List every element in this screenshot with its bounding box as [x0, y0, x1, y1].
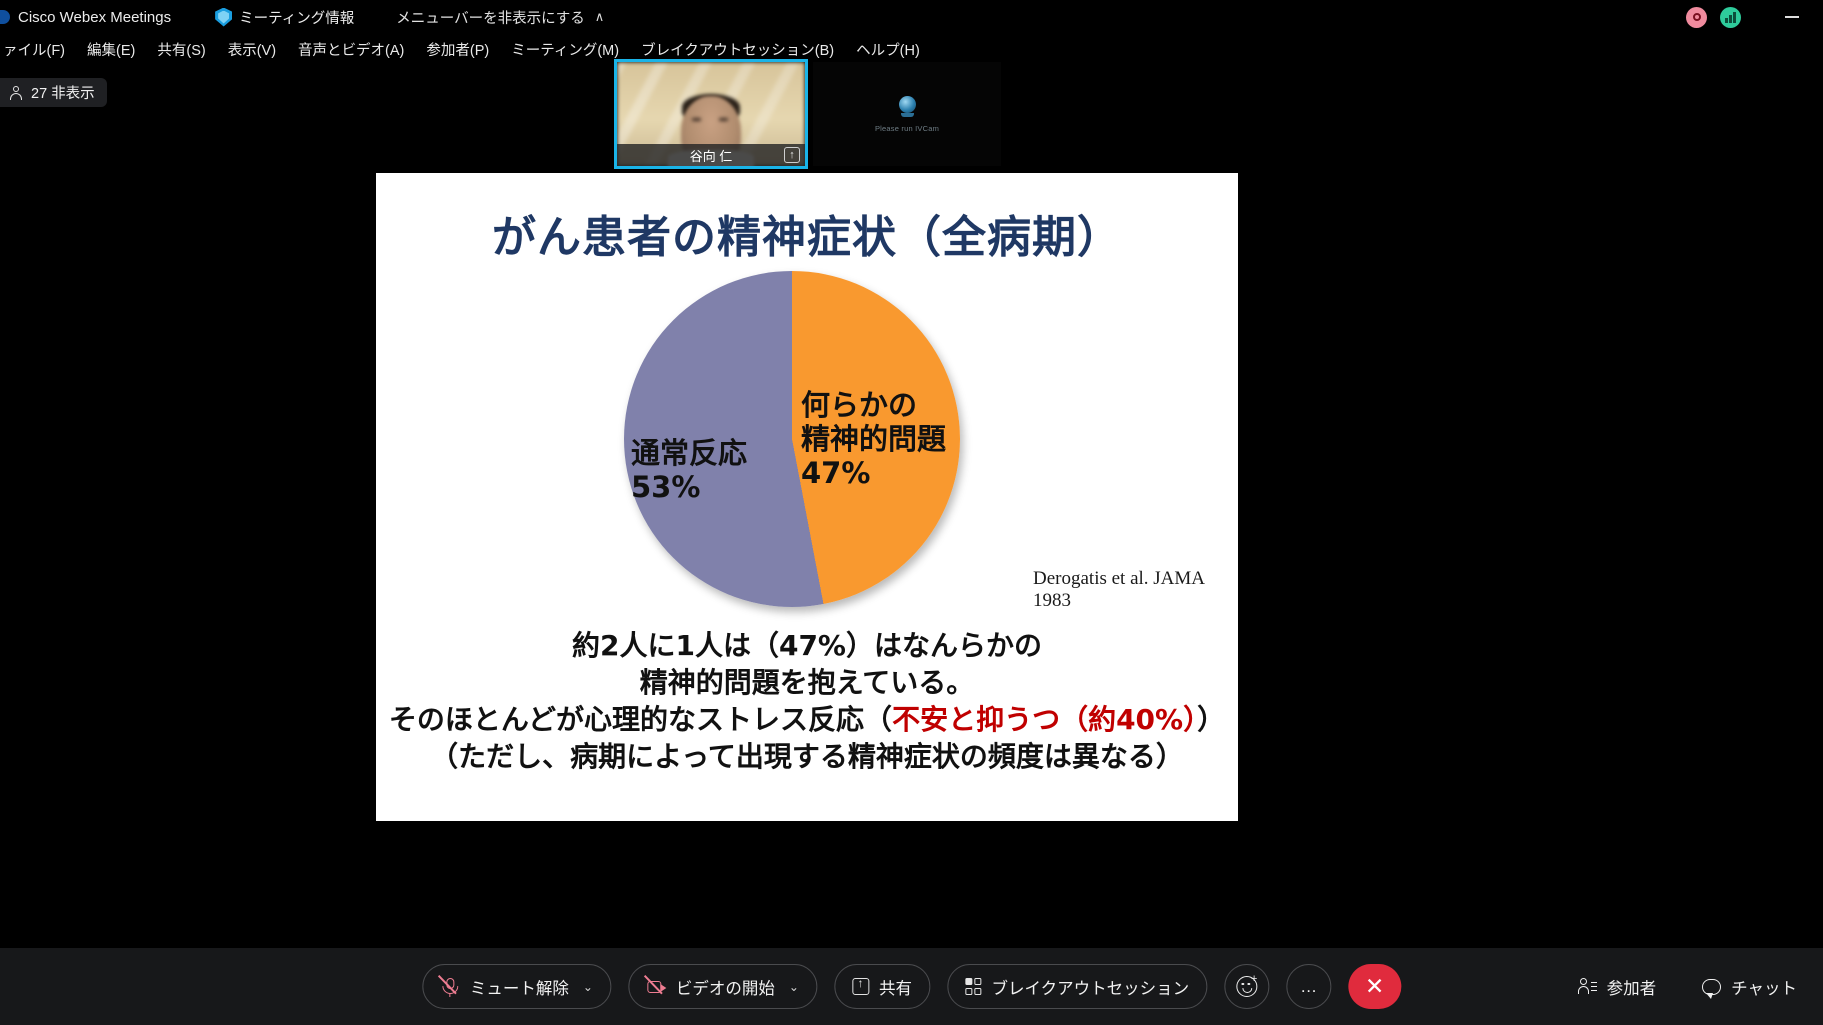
- pie-label-normal-reaction-value: 53%: [631, 470, 747, 504]
- chat-button-label: チャット: [1731, 975, 1797, 999]
- participants-button[interactable]: 参加者: [1578, 975, 1657, 999]
- ivcam-placeholder-text: Please run IVCam: [875, 124, 939, 133]
- more-options-button[interactable]: …: [1286, 964, 1331, 1009]
- app-title: Cisco Webex Meetings: [18, 9, 171, 26]
- network-quality-icon[interactable]: [1720, 7, 1741, 28]
- leave-meeting-button[interactable]: ✕: [1348, 964, 1401, 1009]
- menu-item-view[interactable]: 表示(V): [217, 39, 287, 60]
- slide-body-line-1: 約2人に1人は（47%）はなんらかの: [376, 628, 1238, 665]
- breakout-grid-icon: [965, 978, 982, 995]
- webex-meeting-window: Cisco Webex Meetings ミーティング情報 メニューバーを非表示…: [0, 0, 1823, 1025]
- breakout-session-button-label: ブレイクアウトセッション: [991, 975, 1189, 999]
- pie-label-psych-problem-value: 47%: [801, 457, 946, 491]
- menu-item-help[interactable]: ヘルプ(H): [845, 39, 931, 60]
- menu-item-breakout[interactable]: ブレイクアウトセッション(B): [630, 39, 845, 60]
- menu-bar: ァイル(F) 編集(E) 共有(S) 表示(V) 音声とビデオ(A) 参加者(P…: [0, 34, 1823, 64]
- slide-citation: Derogatis et al. JAMA 1983: [1033, 568, 1238, 612]
- video-name-label: 谷向 仁: [617, 144, 805, 166]
- slide-title: がん患者の精神症状（全病期）: [376, 201, 1238, 265]
- title-bar: Cisco Webex Meetings ミーティング情報 メニューバーを非表示…: [0, 0, 1823, 34]
- meeting-toolbar: ミュート解除 ⌄ ビデオの開始 ⌄ 共有 ブレイクアウトセッション +: [0, 948, 1823, 1025]
- menu-item-meeting[interactable]: ミーティング(M): [500, 39, 630, 60]
- chat-bubble-icon: [1702, 979, 1721, 995]
- reactions-smiley-icon: +: [1236, 976, 1257, 997]
- recording-icon[interactable]: [1686, 7, 1707, 28]
- mute-chevron-down-icon[interactable]: ⌄: [583, 980, 593, 994]
- toolbar-center-group: ミュート解除 ⌄ ビデオの開始 ⌄ 共有 ブレイクアウトセッション +: [422, 964, 1401, 1009]
- participants-button-label: 参加者: [1607, 975, 1657, 999]
- start-video-button-label: ビデオの開始: [676, 975, 775, 999]
- pie-label-normal-reaction: 通常反応 53%: [631, 436, 747, 504]
- meeting-info-button[interactable]: ミーティング情報: [215, 7, 354, 28]
- pie-label-psych-problem-line2: 精神的問題: [801, 423, 946, 457]
- video-chevron-down-icon[interactable]: ⌄: [789, 980, 799, 994]
- slide-body-line-4: （ただし、病期によって出現する精神症状の頻度は異なる）: [376, 739, 1238, 776]
- slide-body-line-3: そのほとんどが心理的なストレス反応（不安と抑うつ（約40%））: [376, 702, 1238, 739]
- slide-body-line-3-highlight: 不安と抑うつ（約40%）: [892, 703, 1197, 736]
- menu-item-file[interactable]: ァイル(F): [0, 39, 76, 60]
- menu-item-participant[interactable]: 参加者(P): [415, 39, 500, 60]
- more-options-icon: …: [1300, 977, 1317, 997]
- participants-icon: [1578, 978, 1597, 996]
- pie-label-psych-problem: 何らかの 精神的問題 47%: [801, 389, 946, 491]
- person-icon: [10, 86, 22, 100]
- camera-off-icon: [646, 976, 666, 998]
- microphone-muted-icon: [440, 976, 460, 998]
- chat-button[interactable]: チャット: [1702, 975, 1797, 999]
- minimize-button[interactable]: [1775, 0, 1809, 34]
- slide-body-line-3-post: ）: [1197, 703, 1225, 736]
- slide-body-line-3-pre: そのほとんどが心理的なストレス反応（: [389, 703, 892, 736]
- share-button[interactable]: 共有: [834, 964, 930, 1009]
- webcam-icon: [896, 96, 918, 118]
- menu-item-share[interactable]: 共有(S): [146, 39, 216, 60]
- slide-body-text: 約2人に1人は（47%）はなんらかの 精神的問題を抱えている。 そのほとんどが心…: [376, 628, 1238, 776]
- reactions-button[interactable]: +: [1224, 964, 1269, 1009]
- titlebar-right-group: [1686, 0, 1823, 34]
- slide-body-line-2: 精神的問題を抱えている。: [376, 665, 1238, 702]
- hidden-participants-label: 27 非表示: [31, 82, 95, 103]
- shield-icon: [215, 8, 232, 27]
- chevron-up-icon[interactable]: ∧: [595, 9, 605, 25]
- menu-item-audio-video[interactable]: 音声とビデオ(A): [287, 39, 415, 60]
- meeting-info-label: ミーティング情報: [239, 7, 354, 28]
- hide-menubar-button[interactable]: メニューバーを非表示にする: [396, 7, 585, 28]
- mute-button[interactable]: ミュート解除 ⌄: [422, 964, 611, 1009]
- menu-item-edit[interactable]: 編集(E): [76, 39, 146, 60]
- video-thumbnail-strip: 谷向 仁 ↑ Please run IVCam: [617, 62, 1001, 166]
- video-tile-speaker[interactable]: 谷向 仁 ↑: [617, 62, 805, 166]
- mute-button-label: ミュート解除: [470, 975, 569, 999]
- toolbar-right-group: 参加者 チャット: [1578, 975, 1797, 999]
- hidden-participants-badge[interactable]: 27 非表示: [0, 78, 107, 107]
- pie-label-normal-reaction-text: 通常反応: [631, 436, 747, 470]
- breakout-session-button[interactable]: ブレイクアウトセッション: [947, 964, 1207, 1009]
- share-indicator-icon[interactable]: ↑: [784, 147, 800, 163]
- pie-label-psych-problem-line1: 何らかの: [801, 389, 946, 423]
- close-icon: ✕: [1365, 973, 1384, 1000]
- shared-slide[interactable]: がん患者の精神症状（全病期） 通常反応 53% 何らかの 精神的問題 47% D…: [376, 173, 1238, 821]
- share-button-label: 共有: [879, 975, 912, 999]
- start-video-button[interactable]: ビデオの開始 ⌄: [628, 964, 817, 1009]
- video-tile-self[interactable]: Please run IVCam: [813, 62, 1001, 166]
- share-screen-icon: [852, 978, 869, 995]
- webex-logo-icon: [0, 9, 10, 25]
